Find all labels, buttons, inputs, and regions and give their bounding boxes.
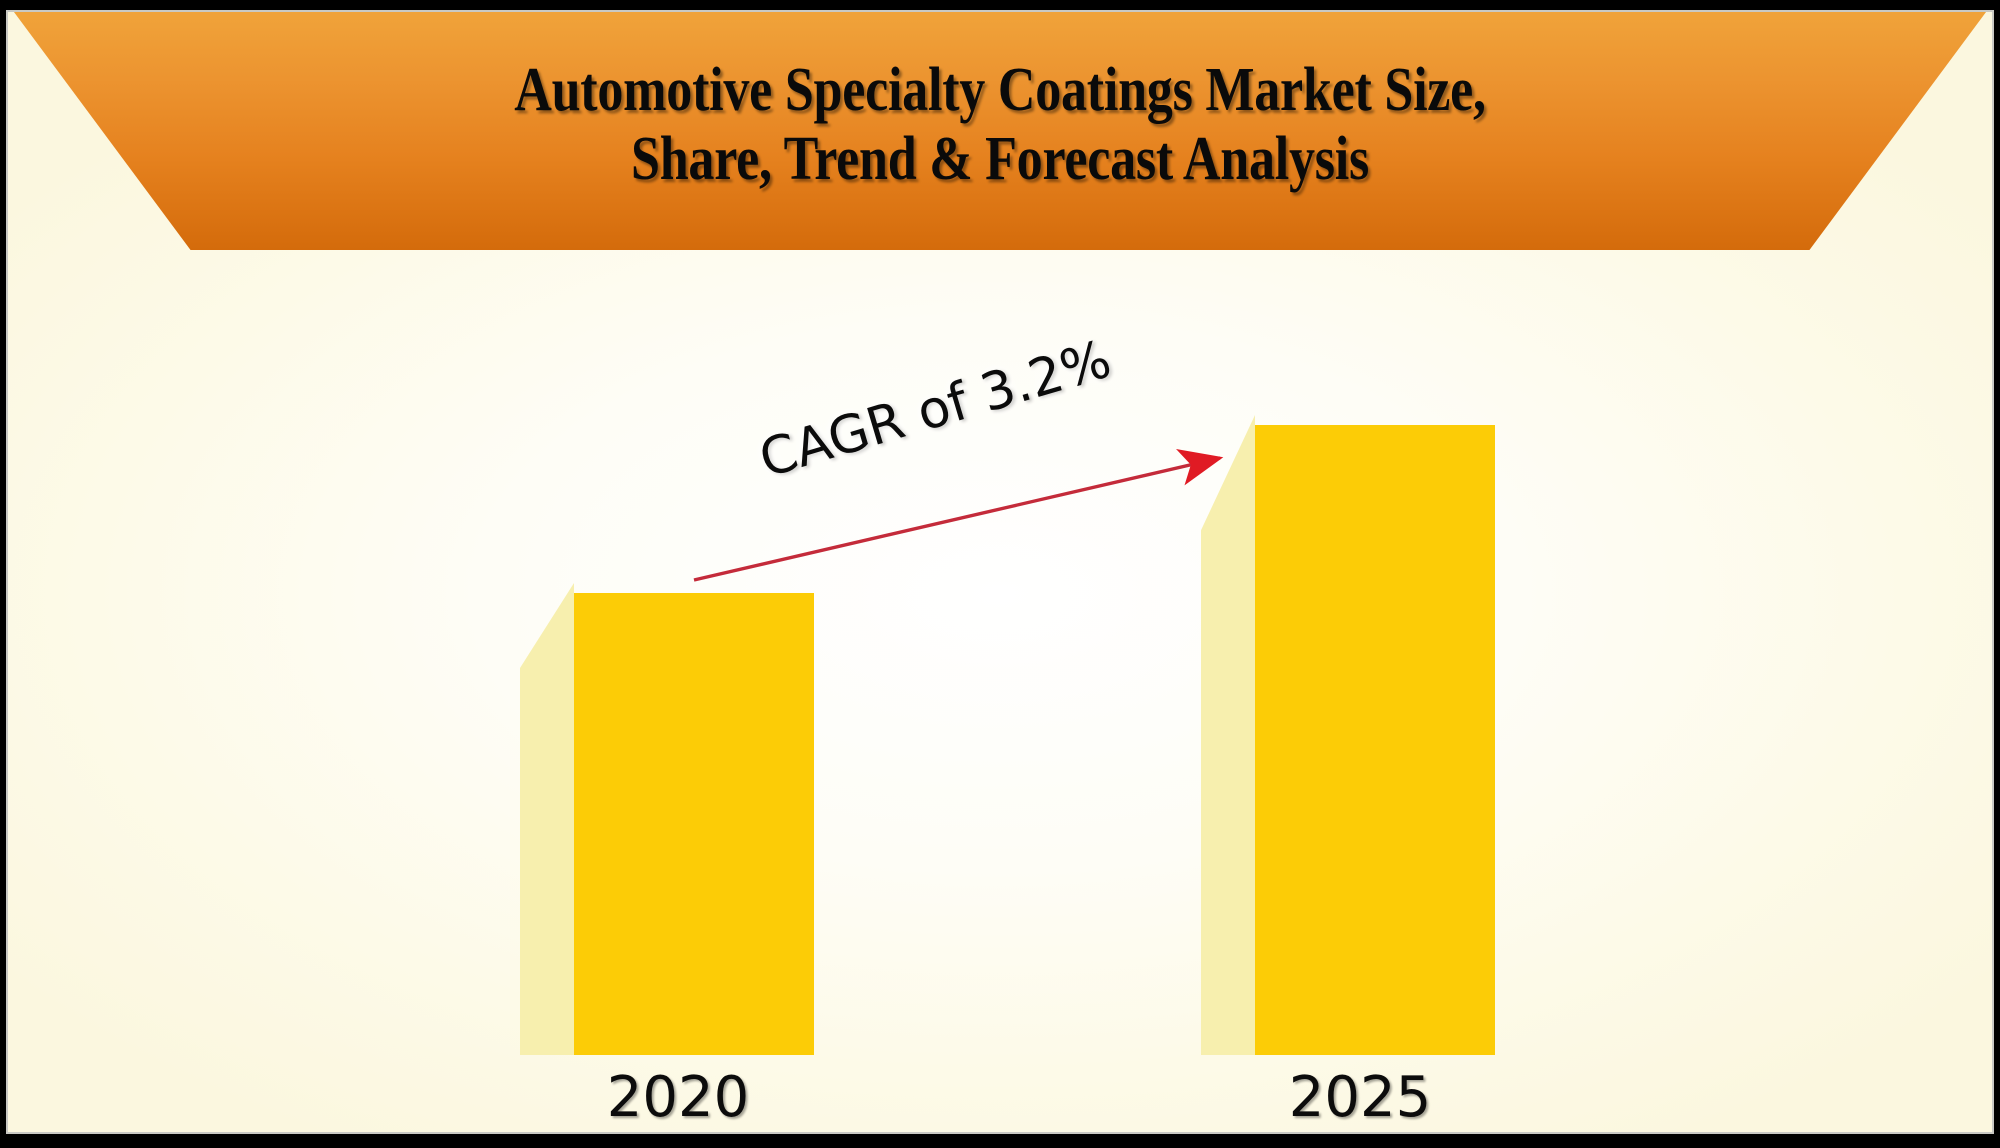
chart-plot-area: 2020 2025 CAGR of 3.2% <box>8 250 1992 1134</box>
cagr-annotation-label: CAGR of 3.2% <box>753 329 1118 490</box>
bar-2025[interactable] <box>1201 415 1495 1055</box>
page-title: Automotive Specialty Coatings Market Siz… <box>458 56 1542 207</box>
slide-body: Automotive Specialty Coatings Market Siz… <box>6 10 1994 1134</box>
bar-2020-side-face <box>520 583 574 1055</box>
slide-canvas: Automotive Specialty Coatings Market Siz… <box>0 0 2000 1148</box>
bar-2025-side-face <box>1201 415 1255 1055</box>
bar-2020-front-face <box>574 593 814 1055</box>
bar-2020[interactable] <box>520 583 814 1055</box>
category-label-2025: 2025 <box>1230 1065 1490 1130</box>
category-label-2020: 2020 <box>548 1065 808 1130</box>
header-banner: Automotive Specialty Coatings Market Siz… <box>8 12 1992 250</box>
bar-2025-front-face <box>1255 425 1495 1055</box>
